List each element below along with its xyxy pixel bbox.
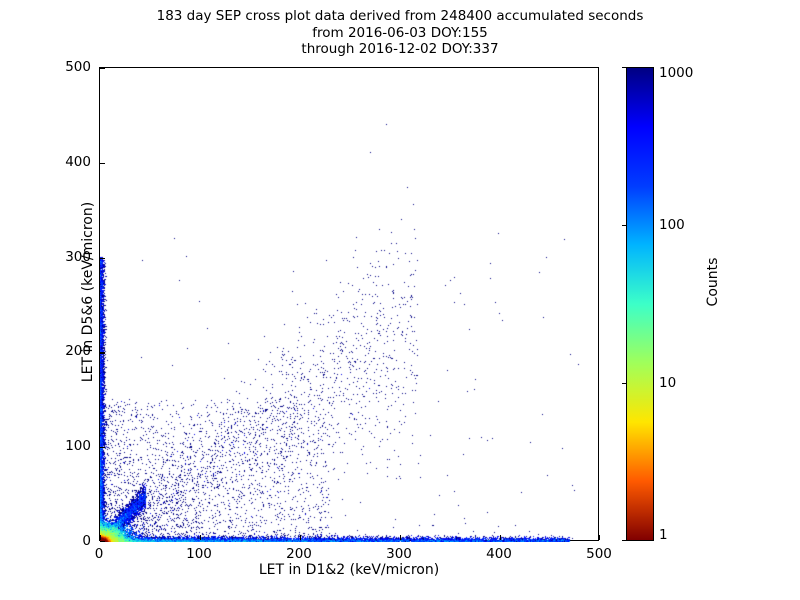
colorbar: 1101001000 [626, 67, 654, 541]
colorbar-tick-label-1000: 1000 [659, 65, 693, 81]
x-tick-label-100: 100 [186, 546, 212, 562]
x-tick-label-500: 500 [586, 546, 612, 562]
x-tick-300 [400, 535, 401, 540]
x-tick-200 [300, 535, 301, 540]
y-tick-0 [100, 541, 105, 542]
figure-canvas: 183 day SEP cross plot data derived from… [0, 0, 800, 600]
y-tick-label-0: 0 [41, 533, 91, 549]
scatter-data-layer [100, 68, 600, 542]
y-tick-200 [100, 352, 105, 353]
colorbar-tick-10 [622, 383, 627, 384]
colorbar-gradient-swatch [626, 67, 654, 541]
colorbar-tick-label-10: 10 [659, 375, 676, 391]
title-line-1: 183 day SEP cross plot data derived from… [0, 8, 800, 25]
x-tick-label-300: 300 [386, 546, 412, 562]
x-tick-400 [500, 535, 501, 540]
plot-title: 183 day SEP cross plot data derived from… [0, 8, 800, 58]
x-axis-label: LET in D1&2 (keV/micron) [99, 562, 599, 578]
x-tick-label-400: 400 [486, 546, 512, 562]
x-tick-label-200: 200 [286, 546, 312, 562]
x-tick-label-0: 0 [95, 546, 104, 562]
colorbar-tick-1 [622, 540, 627, 541]
x-tick-0 [100, 535, 101, 540]
colorbar-tick-1000 [622, 67, 627, 68]
scatter-plot-axes [99, 67, 599, 541]
colorbar-label: Counts [705, 212, 721, 352]
y-tick-300 [100, 258, 105, 259]
title-line-2: from 2016-06-03 DOY:155 [0, 25, 800, 42]
y-tick-100 [100, 447, 105, 448]
y-tick-400 [100, 163, 105, 164]
y-tick-500 [100, 68, 105, 69]
colorbar-tick-100 [622, 225, 627, 226]
colorbar-tick-label-100: 100 [659, 217, 685, 233]
title-line-3: through 2016-12-02 DOY:337 [0, 41, 800, 58]
x-tick-100 [200, 535, 201, 540]
y-axis-label: LET in D5&6 (keV/micron) [80, 55, 96, 529]
x-tick-500 [599, 535, 600, 540]
colorbar-tick-label-1: 1 [659, 527, 668, 543]
